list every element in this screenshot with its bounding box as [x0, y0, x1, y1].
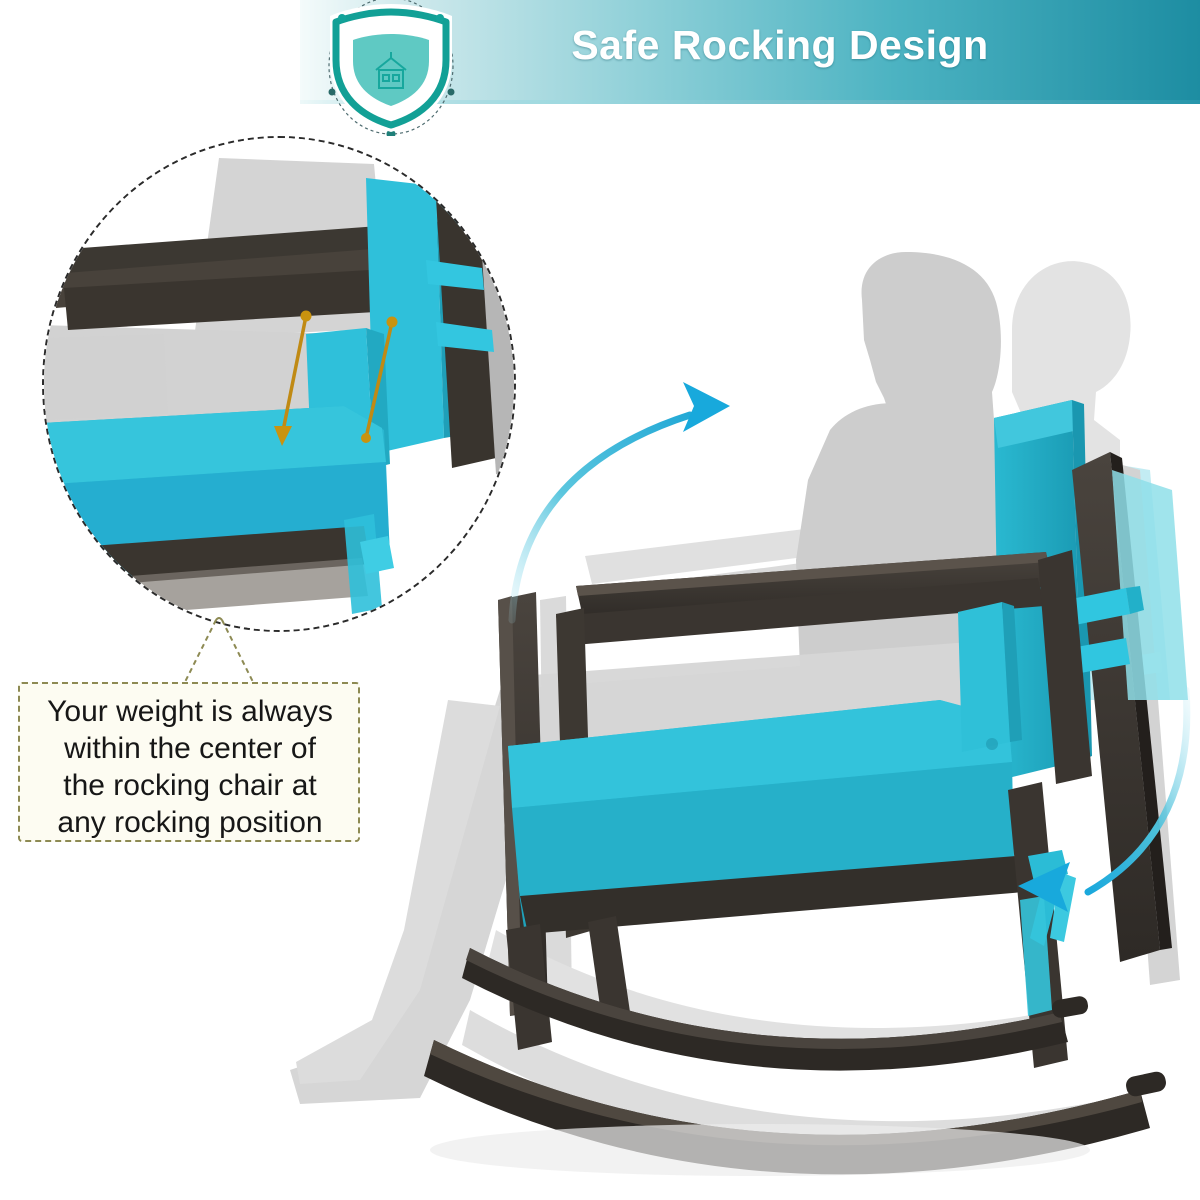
cushion-tie-strap-lower: [1060, 638, 1130, 676]
ghost-chair-position: [462, 455, 1180, 1158]
chair-front-post: [498, 592, 548, 1016]
chair-back-panel: [512, 640, 1000, 780]
arm-cushion-right: [958, 602, 1022, 752]
magnified-detail-circle: [42, 136, 516, 632]
page-title: Safe Rocking Design: [560, 22, 1000, 69]
chair-front-post-inner: [556, 608, 594, 938]
frame-tie-knot-upper: [1028, 850, 1076, 946]
cushion-tie-strap-upper: [1066, 586, 1144, 626]
seat-cushion: [508, 700, 1016, 928]
magnified-detail-artwork: [44, 138, 514, 630]
chair-arm-rail-lower: [556, 578, 1044, 646]
chair-rear-leg: [1008, 782, 1068, 1068]
chair-arm-rail-rear-connector: [1038, 550, 1092, 784]
chair-mid-leg: [588, 916, 630, 1020]
person-silhouette-ghost: [1012, 261, 1131, 470]
chair-back-post: [1072, 452, 1172, 962]
floor-shadow: [430, 1124, 1090, 1176]
chair-seat-rail: [520, 856, 1024, 934]
shield-home-icon: [296, 0, 486, 136]
rock-backward-arrowhead: [1018, 862, 1070, 912]
ghost-back-cushion: [1112, 470, 1188, 700]
callout-text: Your weight is always within the center …: [32, 693, 348, 841]
callout-pointer-tail: [176, 616, 260, 688]
rock-forward-arc: [512, 415, 690, 620]
infographic-canvas: Your weight is always within the center …: [0, 0, 1200, 1200]
rocker-rail-rear: [462, 948, 1089, 1071]
rocker-rail-front: [424, 1040, 1168, 1174]
chair-arm-rail-upper: [576, 552, 1054, 622]
callout-box: Your weight is always within the center …: [18, 682, 360, 842]
rock-forward-arrowhead: [683, 382, 730, 432]
rock-backward-arc: [1088, 690, 1187, 892]
frame-tie-knot-lower: [1020, 896, 1052, 1016]
chair-front-leg: [506, 924, 552, 1050]
back-cushion: [994, 400, 1092, 780]
